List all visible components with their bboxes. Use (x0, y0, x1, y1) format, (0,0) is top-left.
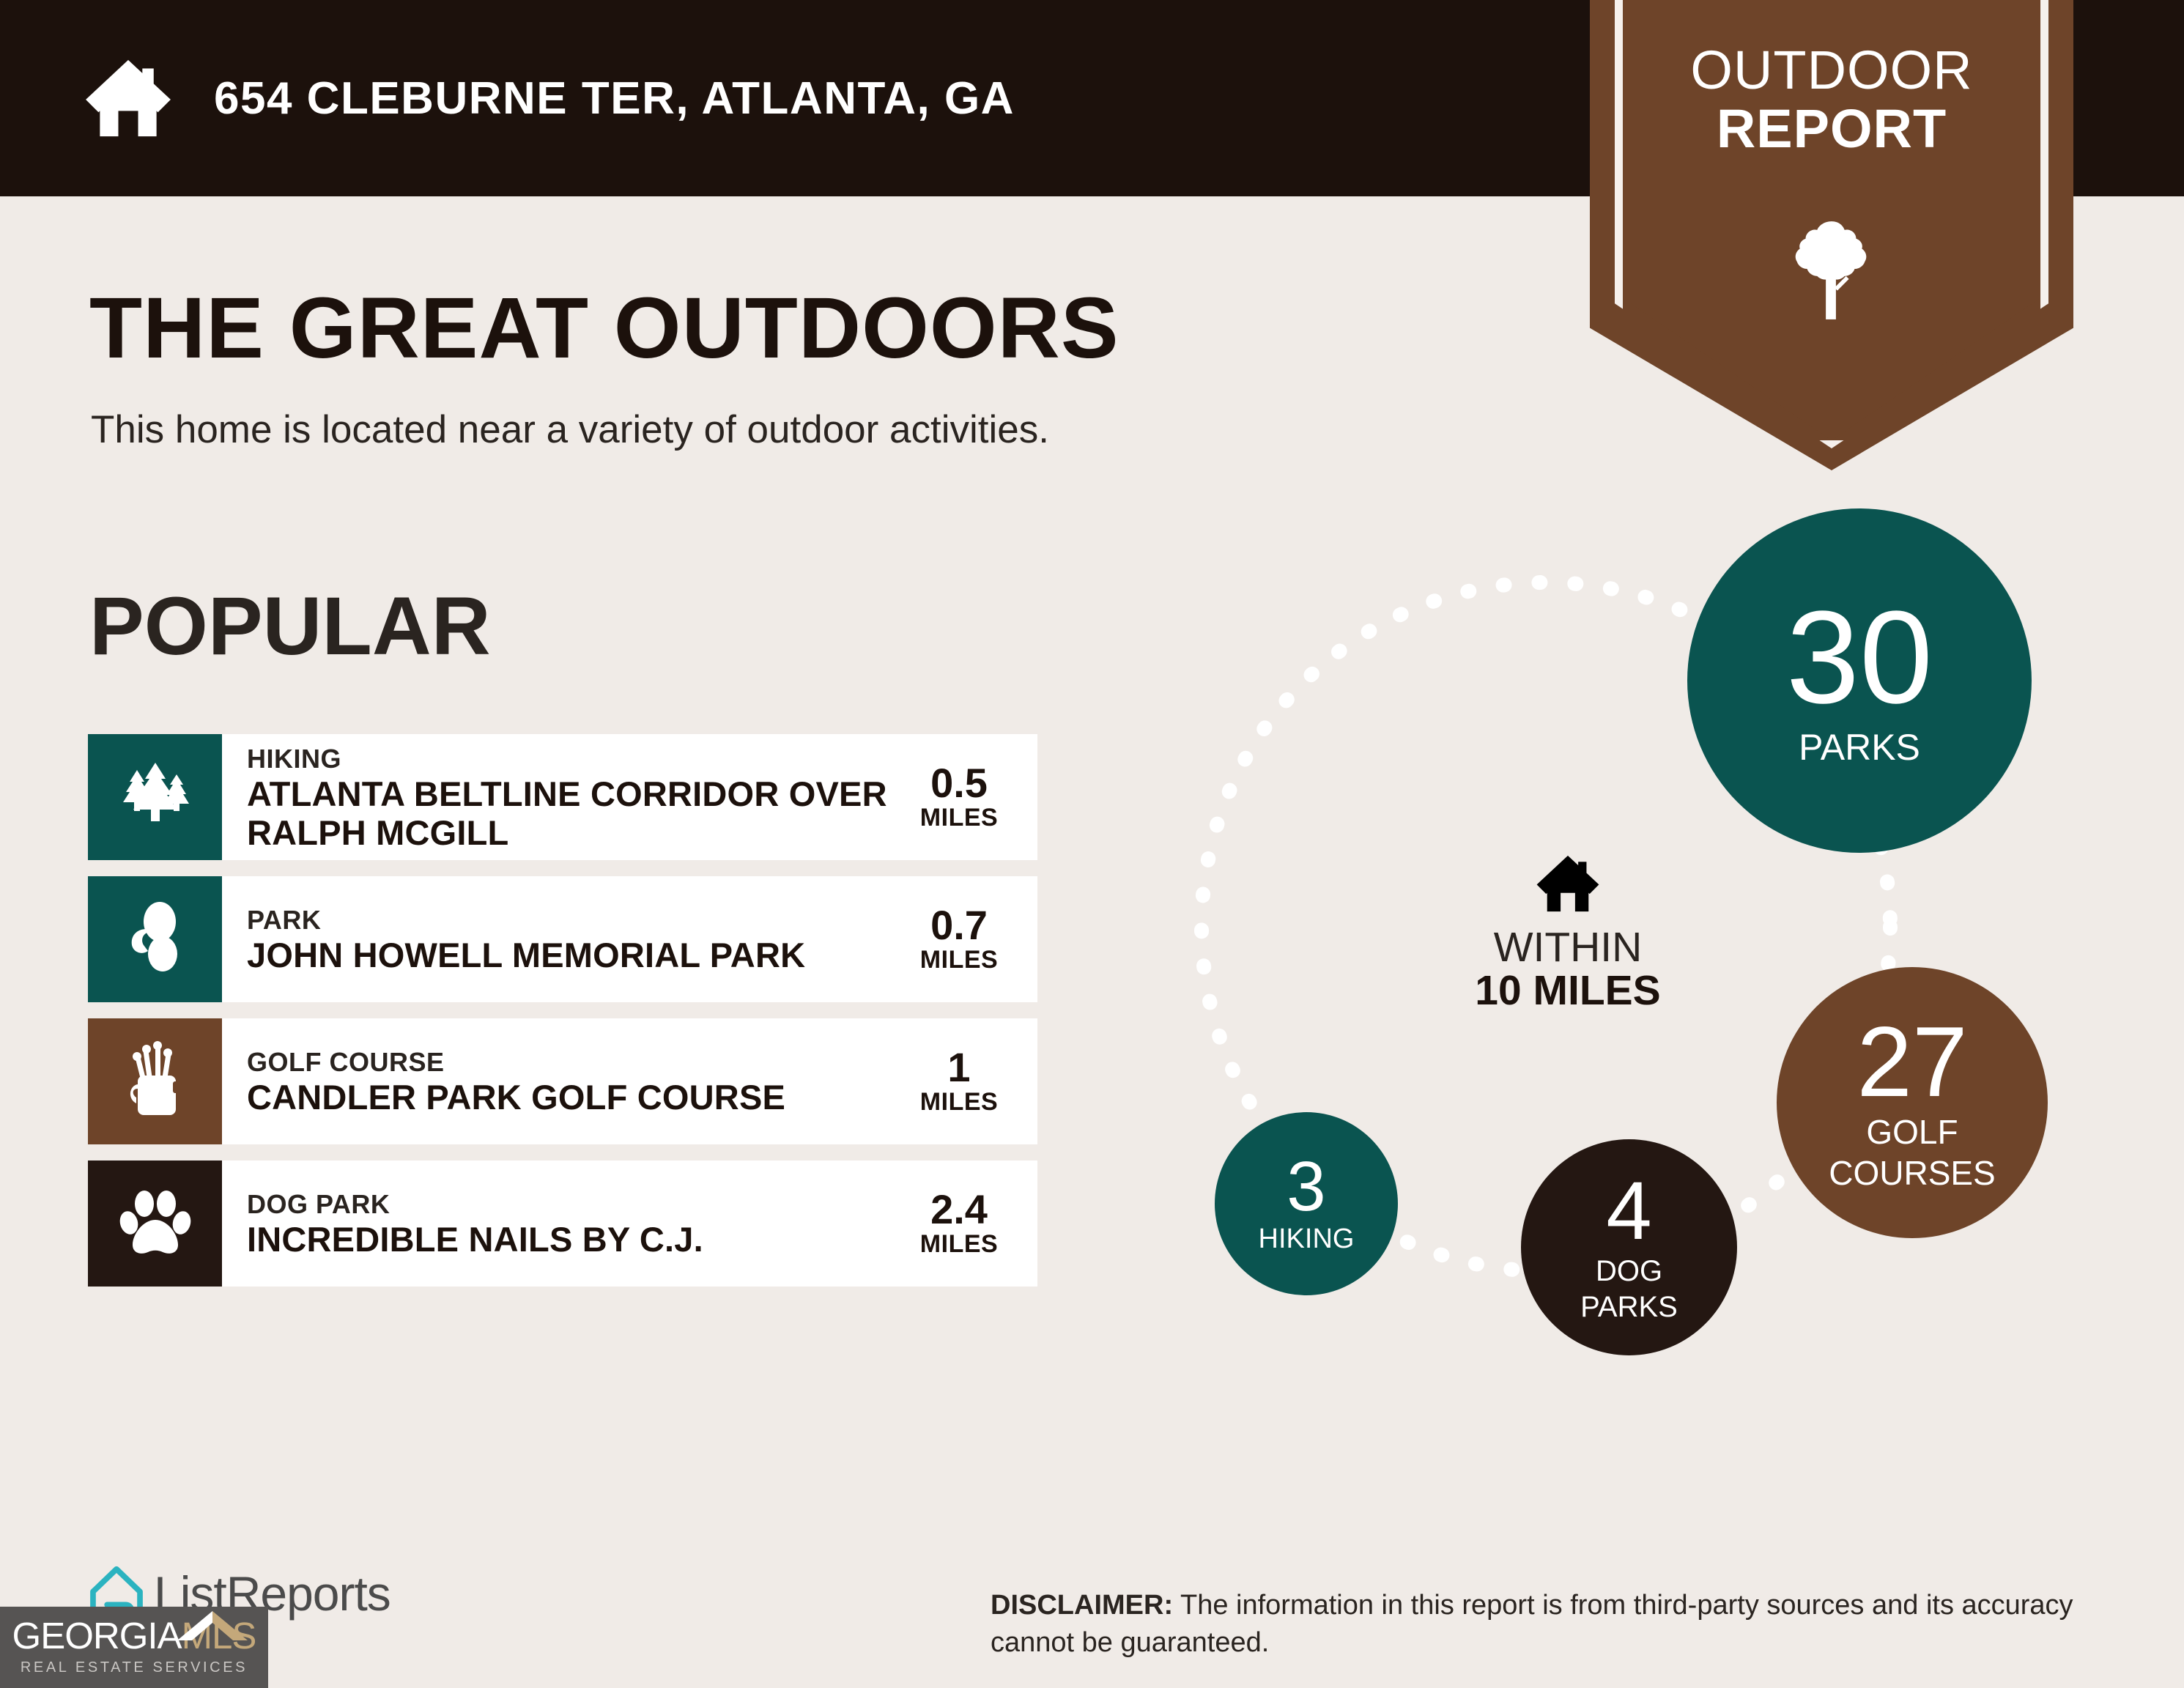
home-icon (82, 57, 174, 139)
list-item[interactable]: HIKING ATLANTA BELTLINE CORRIDOR OVER RA… (88, 734, 1037, 860)
list-item-name: INCREDIBLE NAILS BY C.J. (247, 1221, 891, 1259)
mls-tagline: REAL ESTATE SERVICES (0, 1659, 268, 1676)
list-item-text: DOG PARK INCREDIBLE NAILS BY C.J. (247, 1188, 891, 1259)
bubble-parks[interactable]: 30 PARKS (1687, 508, 2032, 853)
bubble-hiking-label: HIKING (1259, 1225, 1355, 1254)
list-item-distance: 2.4 MILES (891, 1188, 1027, 1259)
popular-list: HIKING ATLANTA BELTLINE CORRIDOR OVER RA… (88, 734, 1037, 1303)
page-subtitle: This home is located near a variety of o… (91, 407, 1049, 452)
disclaimer: DISCLAIMER: The information in this repo… (991, 1587, 2148, 1662)
list-item-distance: 0.5 MILES (891, 762, 1027, 832)
georgia-mls-logo: GEORGIAMLS REAL ESTATE SERVICES (0, 1607, 268, 1688)
bubble-golf-label-line2: COURSES (1829, 1156, 1995, 1191)
within-10-miles-chart: 30 PARKS 27 GOLF COURSES 4 DOG PARKS 3 H… (1187, 513, 2184, 1480)
list-item-category: HIKING (247, 742, 891, 775)
tree-icon (1785, 215, 1878, 329)
distance-unit: MILES (891, 1088, 1027, 1117)
bubble-golf-label-line1: GOLF (1866, 1115, 1958, 1150)
list-item-text: GOLF COURSE CANDLER PARK GOLF COURSE (247, 1045, 891, 1117)
distance-unit: MILES (891, 804, 1027, 832)
distance-value: 2.4 (891, 1188, 1027, 1230)
distance-value: 0.7 (891, 904, 1027, 946)
list-item-distance: 0.7 MILES (891, 904, 1027, 974)
bubble-dog-label-line1: DOG (1596, 1256, 1662, 1287)
property-address: 654 CLEBURNE TER, ATLANTA, GA (214, 73, 1015, 125)
bubble-hiking-value: 3 (1287, 1153, 1325, 1221)
bubble-dog-label-line2: PARKS (1580, 1292, 1678, 1323)
distance-unit: MILES (891, 1230, 1027, 1259)
list-item-text: HIKING ATLANTA BELTLINE CORRIDOR OVER RA… (247, 742, 891, 852)
disclaimer-label: DISCLAIMER: (991, 1590, 1173, 1621)
list-item[interactable]: GOLF COURSE CANDLER PARK GOLF COURSE 1 M… (88, 1018, 1037, 1144)
bubble-golf-value: 27 (1857, 1014, 1967, 1110)
list-item[interactable]: DOG PARK INCREDIBLE NAILS BY C.J. 2.4 MI… (88, 1160, 1037, 1287)
pine-trees-icon (115, 755, 196, 840)
list-item-name: CANDLER PARK GOLF COURSE (247, 1078, 891, 1117)
list-item-icon-tile (88, 1160, 222, 1287)
mls-georgia-text: GEORGIA (12, 1615, 182, 1656)
golf-bag-icon (119, 1040, 192, 1123)
distance-value: 1 (891, 1046, 1027, 1088)
page-title: THE GREAT OUTDOORS (89, 278, 1119, 378)
chart-center-label: WITHIN 10 MILES (1447, 854, 1689, 1013)
bubble-dog-parks[interactable]: 4 DOG PARKS (1521, 1139, 1737, 1355)
list-item-text: PARK JOHN HOWELL MEMORIAL PARK (247, 903, 891, 975)
list-item-distance: 1 MILES (891, 1046, 1027, 1117)
distance-unit: MILES (891, 946, 1027, 974)
paw-print-icon (116, 1183, 194, 1265)
bubble-dog-value: 4 (1606, 1171, 1651, 1251)
badge-line-1: OUTDOOR (1590, 41, 2073, 100)
list-item-category: GOLF COURSE (247, 1045, 891, 1078)
bubble-parks-value: 30 (1786, 595, 1933, 722)
list-item[interactable]: PARK JOHN HOWELL MEMORIAL PARK 0.7 MILES (88, 876, 1037, 1002)
distance-value: 0.5 (891, 762, 1027, 804)
list-item-name: JOHN HOWELL MEMORIAL PARK (247, 936, 891, 975)
list-item-name: ATLANTA BELTLINE CORRIDOR OVER RALPH MCG… (247, 775, 891, 852)
outdoor-report-page: 654 CLEBURNE TER, ATLANTA, GA OUTDOOR RE… (0, 0, 2184, 1688)
home-icon (1447, 854, 1689, 917)
list-item-icon-tile (88, 876, 222, 1002)
list-item-icon-tile (88, 1018, 222, 1144)
list-item-category: DOG PARK (247, 1188, 891, 1221)
badge-text: OUTDOOR REPORT (1590, 41, 2073, 158)
park-tree-icon (117, 900, 193, 980)
list-item-icon-tile (88, 734, 222, 860)
bubble-hiking[interactable]: 3 HIKING (1215, 1112, 1398, 1295)
bubble-parks-label: PARKS (1799, 728, 1920, 766)
mls-roof-icon (170, 1608, 258, 1647)
badge-line-2: REPORT (1590, 100, 2073, 158)
center-label-line2: 10 MILES (1447, 969, 1689, 1013)
popular-heading: POPULAR (89, 579, 491, 673)
list-item-category: PARK (247, 903, 891, 936)
outdoor-report-badge: OUTDOOR REPORT (1590, 0, 2073, 470)
center-label-line1: WITHIN (1447, 926, 1689, 969)
bubble-golf-courses[interactable]: 27 GOLF COURSES (1777, 967, 2048, 1238)
